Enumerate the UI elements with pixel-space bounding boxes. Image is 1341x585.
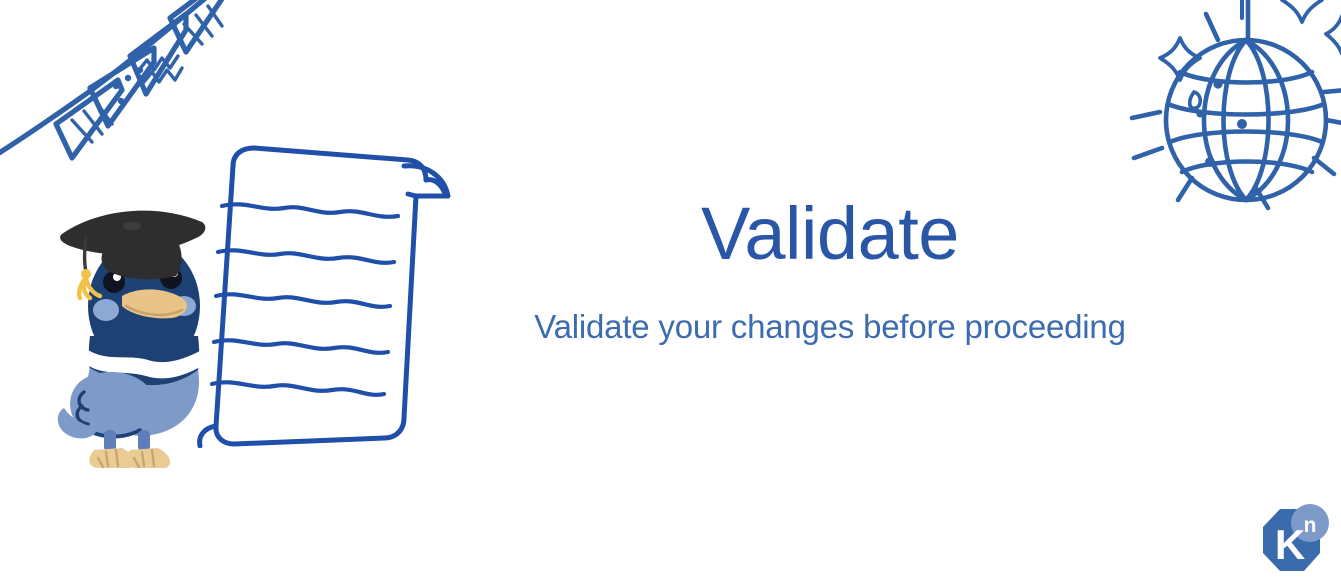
page-subtitle: Validate your changes before proceeding: [440, 309, 1220, 345]
certificate-scroll-illustration: [176, 138, 466, 448]
logo-letter-n: n: [1304, 514, 1317, 537]
hero-text-block: Validate Validate your changes before pr…: [440, 196, 1220, 346]
kn-logo[interactable]: K n: [1248, 503, 1330, 583]
party-bunting-illustration: [0, 0, 230, 176]
disco-ball-illustration: [1118, 0, 1341, 224]
graduate-bird-mascot: [56, 186, 236, 474]
logo-letter-k: K: [1275, 521, 1305, 568]
validate-splash-screen: Validate Validate your changes before pr…: [0, 0, 1341, 585]
page-title: Validate: [440, 196, 1220, 271]
